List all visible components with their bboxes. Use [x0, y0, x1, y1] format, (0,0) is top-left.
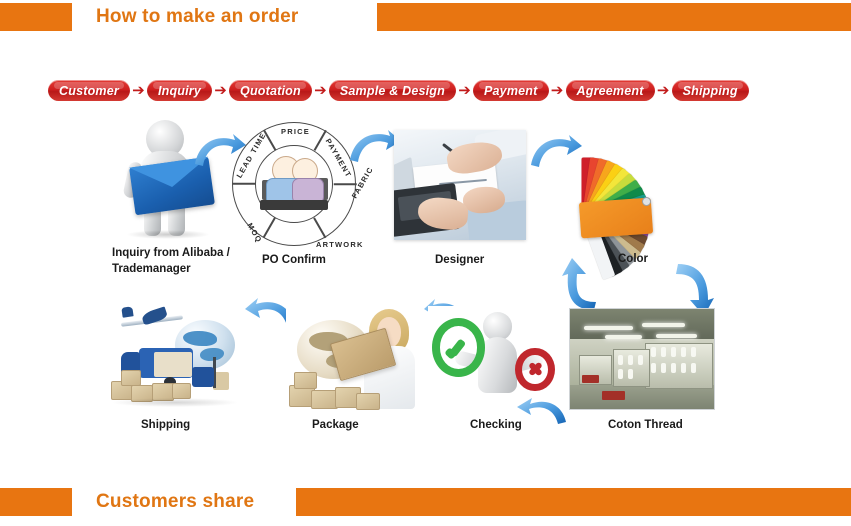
airplane-icon: [121, 312, 183, 329]
flow-arrow-icon-5: ➔: [549, 83, 566, 98]
arrow-thread-to-checking-icon: [516, 396, 568, 426]
checkmark-stroke-long: [449, 339, 466, 358]
thread-spool: [681, 363, 686, 373]
wheel-label-artwork: ARTWORK: [316, 240, 364, 249]
caption-designer: Designer: [435, 253, 484, 268]
top-banner: How to make an order: [0, 3, 851, 31]
flow-step-shipping[interactable]: Shipping: [672, 80, 749, 101]
stage-checking: [428, 306, 560, 410]
thread-spool: [681, 347, 686, 357]
thread-spool: [661, 347, 666, 357]
stage-coton-thread: [569, 308, 715, 410]
wheel-label-price: PRICE: [281, 127, 310, 136]
color-fan-icon: [570, 128, 698, 240]
desk: [260, 200, 328, 210]
thread-spool: [618, 369, 623, 379]
caption-coton-thread: Coton Thread: [608, 418, 683, 433]
bottom-banner: Customers share: [0, 488, 851, 516]
flow-step-agreement[interactable]: Agreement: [566, 80, 655, 101]
plane-tail: [122, 306, 135, 318]
checkmark-icon: [432, 318, 485, 376]
carton-box: [294, 372, 317, 389]
ceiling-lamp: [605, 335, 642, 339]
stage-package: [286, 303, 426, 411]
cross-icon: [515, 348, 555, 392]
thread-spool: [628, 369, 633, 379]
carton-box: [121, 370, 141, 386]
bottom-banner-right-block: [296, 488, 851, 516]
bottom-banner-left-block: [0, 488, 72, 516]
thread-spool: [691, 363, 696, 373]
flow-arrow-icon-3: ➔: [312, 83, 329, 98]
truck-cargo-open: [154, 352, 192, 376]
fan-rivet: [642, 197, 651, 206]
forklift-icon: [192, 359, 229, 391]
forklift-body: [192, 367, 214, 387]
carton-box: [356, 393, 380, 410]
ceiling-lamp: [642, 323, 685, 327]
packaging-icon: [286, 303, 426, 411]
thread-spool: [638, 355, 643, 365]
ceiling-lamp: [656, 334, 696, 338]
flow-step-quotation[interactable]: Quotation: [229, 80, 312, 101]
order-process-infographic: How to make an order Customer ➔ Inquiry …: [0, 0, 851, 526]
ceiling-lamp: [584, 326, 633, 330]
stage-po-confirm: LEAD TIME PRICE PAYMENT FABRIC ARTWORK M…: [232, 122, 356, 246]
designer-photo: [394, 130, 526, 240]
flow-step-customer[interactable]: Customer: [48, 80, 130, 101]
stage-designer: [394, 130, 526, 240]
wheel-spoke: [334, 183, 357, 185]
top-banner-left-block: [0, 3, 72, 31]
flow-step-sample-design[interactable]: Sample & Design: [329, 80, 456, 101]
logistics-icon: [104, 303, 246, 411]
caption-package: Package: [312, 418, 359, 433]
caption-inquiry-line2: Trademanager: [112, 262, 191, 277]
caption-inquiry-line1: Inquiry from Alibaba /: [112, 246, 230, 261]
caption-shipping: Shipping: [141, 418, 190, 433]
thread-spool: [671, 363, 676, 373]
stage-color: [570, 128, 698, 240]
ground-shadow: [113, 398, 238, 407]
red-crate: [602, 391, 625, 400]
carton-box: [172, 383, 191, 399]
flow-arrow-icon-2: ➔: [212, 83, 229, 98]
caption-checking: Checking: [470, 418, 522, 433]
quality-check-icon: [428, 306, 560, 410]
wheel-spoke: [233, 183, 256, 185]
wheel-center-illustration: [258, 152, 330, 216]
bottom-banner-title: Customers share: [96, 491, 254, 513]
thread-spool: [651, 347, 656, 357]
caption-po-confirm: PO Confirm: [262, 253, 326, 268]
figure-shadow: [126, 230, 210, 239]
thread-factory-photo: [569, 308, 715, 410]
order-wheel-icon: LEAD TIME PRICE PAYMENT FABRIC ARTWORK M…: [232, 122, 356, 246]
arrow-checking-to-color-icon: [560, 258, 600, 312]
flow-arrow-icon-4: ➔: [456, 83, 473, 98]
top-banner-title: How to make an order: [96, 6, 299, 28]
flow-step-payment[interactable]: Payment: [473, 80, 549, 101]
thread-spool: [651, 363, 656, 373]
top-banner-right-block: [377, 3, 851, 31]
thread-spool: [671, 347, 676, 357]
thread-spool: [691, 347, 696, 357]
flow-arrow-icon-1: ➔: [130, 83, 147, 98]
caption-color: Color: [618, 252, 648, 267]
thread-spool: [661, 363, 666, 373]
stage-shipping: [104, 303, 246, 411]
red-crate: [582, 375, 599, 383]
flow-step-inquiry[interactable]: Inquiry: [147, 80, 212, 101]
process-flow-pills: Customer ➔ Inquiry ➔ Quotation ➔ Sample …: [48, 80, 749, 101]
flow-arrow-icon-6: ➔: [655, 83, 672, 98]
thread-spool: [618, 355, 623, 365]
thread-spool: [628, 355, 633, 365]
